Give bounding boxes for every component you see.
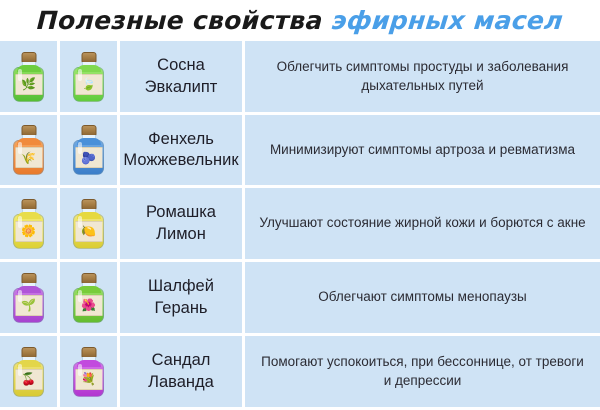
oil-description-cell: Улучшают состояние жирной кожи и борются… xyxy=(245,188,600,259)
bottle-cell: 🍃 xyxy=(60,41,117,112)
essential-oils-infographic: Полезные свойстваэфирных масел 🌿 xyxy=(0,0,600,410)
page-title: Полезные свойстваэфирных масел xyxy=(0,0,600,41)
oil-name-primary: Шалфей xyxy=(148,276,214,297)
bottle-highlight xyxy=(78,364,82,376)
pine-sprig-icon: 🌿 xyxy=(21,78,36,90)
lemon-fruit-icon: 🍋 xyxy=(81,225,96,237)
oil-name-primary: Фенхель xyxy=(148,129,214,150)
bottle-cell: 🍒 xyxy=(0,336,57,407)
table-row: 🌾 🫐 Фенхель Можжевельник Минимизируют xyxy=(0,115,600,188)
title-primary-text: Полезные свойства xyxy=(36,8,323,33)
bottle-cell: 🍋 xyxy=(60,188,117,259)
bottle-cell: 🌱 xyxy=(0,262,57,333)
oil-description-cell: Минимизируют симптомы артроза и ревматиз… xyxy=(245,115,600,185)
juniper-berries-icon: 🫐 xyxy=(81,152,96,164)
oil-name-secondary: Эвкалипт xyxy=(145,77,218,98)
oil-bottle-fenhel: 🌾 xyxy=(12,125,45,175)
oils-table: 🌿 🍃 Сосна Эвкалипт Облегчить симптомы xyxy=(0,41,600,410)
bottle-highlight xyxy=(18,290,22,302)
oil-names-cell: Ромашка Лимон xyxy=(120,188,242,259)
oil-bottle-limon: 🍋 xyxy=(72,199,105,249)
oil-bottle-evkalipt: 🍃 xyxy=(72,52,105,102)
title-accent-text: эфирных масел xyxy=(331,8,565,33)
table-row: 🌼 🍋 Ромашка Лимон Улучшают состояние ж xyxy=(0,188,600,262)
bottle-cell: 🌼 xyxy=(0,188,57,259)
bottle-highlight xyxy=(78,290,82,302)
lavender-sprig-icon: 💐 xyxy=(81,373,96,385)
oil-name-secondary: Лимон xyxy=(156,224,206,245)
oil-bottle-sosna: 🌿 xyxy=(12,52,45,102)
bottle-highlight xyxy=(18,364,22,376)
oil-names-cell: Шалфей Герань xyxy=(120,262,242,333)
bottle-highlight xyxy=(78,69,82,81)
oil-name-secondary: Герань xyxy=(154,298,207,319)
bottle-highlight xyxy=(18,142,22,154)
oil-bottle-romashka: 🌼 xyxy=(12,199,45,249)
bottle-highlight xyxy=(18,216,22,228)
bottle-cell: 🫐 xyxy=(60,115,117,185)
chamomile-flower-icon: 🌼 xyxy=(21,225,36,237)
oil-names-cell: Сосна Эвкалипт xyxy=(120,41,242,112)
bottle-highlight xyxy=(78,142,82,154)
oil-description-cell: Облегчить симптомы простуды и заболевани… xyxy=(245,41,600,112)
oil-bottle-lavanda: 💐 xyxy=(72,347,105,397)
sandalwood-berries-icon: 🍒 xyxy=(21,373,36,385)
oil-bottle-geran: 🌺 xyxy=(72,273,105,323)
oil-name-primary: Ромашка xyxy=(146,202,216,223)
bottle-cell: 🌿 xyxy=(0,41,57,112)
oil-name-primary: Сосна xyxy=(157,55,205,76)
oil-bottle-mozhzhevelnik: 🫐 xyxy=(72,125,105,175)
bottle-highlight xyxy=(18,69,22,81)
table-row: 🌿 🍃 Сосна Эвкалипт Облегчить симптомы xyxy=(0,41,600,115)
sage-sprig-icon: 🌱 xyxy=(21,299,36,311)
fennel-sprig-icon: 🌾 xyxy=(21,152,36,164)
oil-names-cell: Сандал Лаванда xyxy=(120,336,242,407)
bottle-cell: 🌺 xyxy=(60,262,117,333)
oil-description-cell: Помогают успокоиться, при бессоннице, от… xyxy=(245,336,600,407)
oil-description-cell: Облегчают симптомы менопаузы xyxy=(245,262,600,333)
oil-names-cell: Фенхель Можжевельник xyxy=(120,115,242,185)
geranium-flower-icon: 🌺 xyxy=(81,299,96,311)
oil-name-secondary: Можжевельник xyxy=(123,150,238,171)
eucalyptus-leaf-icon: 🍃 xyxy=(81,78,96,90)
bottle-cell: 💐 xyxy=(60,336,117,407)
oil-bottle-shalfey: 🌱 xyxy=(12,273,45,323)
bottle-highlight xyxy=(78,216,82,228)
table-row: 🍒 💐 Сандал Лаванда Помогают успокоитьс xyxy=(0,336,600,410)
oil-name-primary: Сандал xyxy=(152,350,211,371)
oil-bottle-sandal: 🍒 xyxy=(12,347,45,397)
oil-name-secondary: Лаванда xyxy=(148,372,214,393)
table-row: 🌱 🌺 Шалфей Герань Облегчают симптомы м xyxy=(0,262,600,336)
bottle-cell: 🌾 xyxy=(0,115,57,185)
